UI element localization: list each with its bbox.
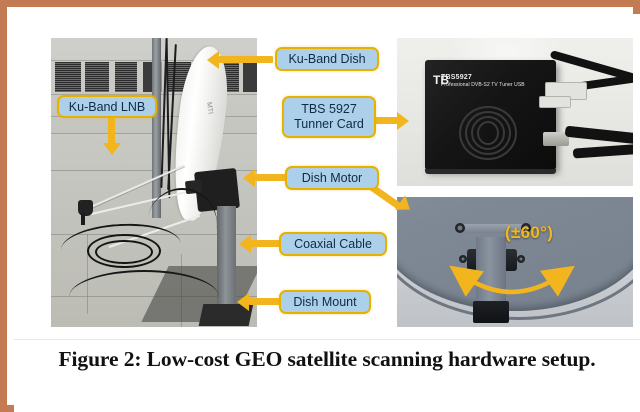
figure-frame: MTI TB TBS5927 Pr bbox=[0, 0, 640, 412]
callout-ku-band-dish[interactable]: Ku-Band Dish bbox=[275, 47, 379, 71]
ku-band-lnb-device bbox=[78, 200, 93, 216]
arrow-dish-mount bbox=[237, 293, 281, 311]
coaxial-cable bbox=[573, 143, 633, 158]
figure-body: MTI TB TBS5927 Pr bbox=[14, 14, 640, 412]
arrow-ku-band-lnb bbox=[103, 117, 121, 157]
tbs-tuner-device: TB TBS5927 Professional DVB-S2 TV Tuner … bbox=[425, 60, 556, 170]
tuner-model-text: TBS5927 bbox=[441, 74, 525, 81]
wall-vent bbox=[85, 62, 109, 92]
coaxial-cable bbox=[565, 126, 633, 146]
dish-brand-mark: MTI bbox=[192, 102, 214, 119]
callout-tbs-tuner-card[interactable]: TBS 5927 Tunner Card bbox=[282, 96, 376, 138]
callout-dish-mount[interactable]: Dish Mount bbox=[279, 290, 371, 314]
bracket-bolt bbox=[455, 223, 465, 233]
arrow-coaxial-cable bbox=[239, 235, 281, 253]
rotation-range-label: (±60°) bbox=[505, 223, 553, 243]
arrow-ku-band-dish bbox=[207, 51, 273, 69]
coaxial-cable-run bbox=[69, 270, 219, 324]
tuner-subtitle-text: Professional DVB-S2 TV Tuner USB bbox=[441, 82, 525, 88]
callout-coaxial-cable[interactable]: Coaxial Cable bbox=[279, 232, 387, 256]
tbs-tuner-card-photo: TB TBS5927 Professional DVB-S2 TV Tuner … bbox=[397, 38, 633, 186]
arrow-dish-motor-left bbox=[243, 169, 289, 187]
support-pole bbox=[152, 38, 161, 218]
tuner-vent-ring bbox=[477, 121, 499, 145]
wall-vent bbox=[55, 62, 81, 92]
arrow-tbs-tuner bbox=[375, 112, 409, 130]
callout-ku-band-lnb[interactable]: Ku-Band LNB bbox=[57, 95, 157, 118]
usb-connector bbox=[539, 96, 571, 108]
wall-vent bbox=[115, 62, 137, 92]
callout-dish-motor[interactable]: Dish Motor bbox=[285, 166, 379, 190]
tuner-branding: TBS5927 Professional DVB-S2 TV Tuner USB bbox=[441, 74, 525, 88]
rotation-arc-arrow bbox=[447, 262, 577, 308]
rooftop-satellite-dish-photo: MTI bbox=[51, 38, 257, 327]
